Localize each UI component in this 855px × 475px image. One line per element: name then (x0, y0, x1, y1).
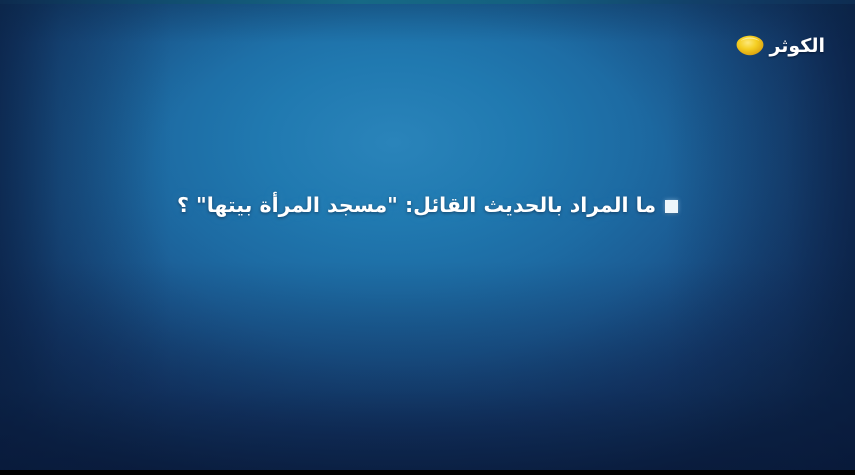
question-text: ما المراد بالحديث القائل: "مسجد المرأة ب… (177, 193, 656, 219)
channel-logo: الكوثر (735, 34, 825, 58)
broadcast-title-card: الكوثر ما المراد بالحديث القائل: "مسجد ا… (0, 0, 855, 475)
bottom-letterbox-bar (0, 470, 855, 475)
question-line: ما المراد بالحديث القائل: "مسجد المرأة ب… (0, 188, 855, 224)
kawthar-diamond-icon (735, 34, 765, 58)
channel-logo-wordmark: الكوثر (769, 37, 825, 56)
top-edge-band (0, 0, 855, 4)
background-vertical-shading (0, 0, 855, 475)
square-bullet-icon (665, 200, 678, 213)
